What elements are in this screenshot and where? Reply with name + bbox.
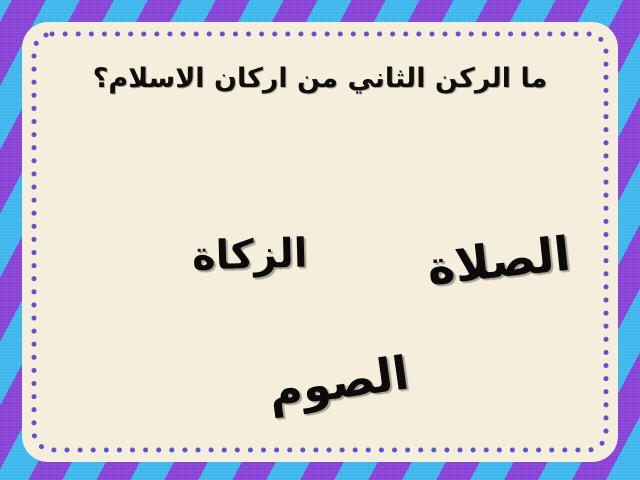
answer-option-salah[interactable]: الصلاة <box>425 227 573 297</box>
answer-option-zakah[interactable]: الزكاة <box>191 230 308 279</box>
quiz-slide: ما الركن الثاني من اركان الاسلام؟ الصلاة… <box>0 0 640 480</box>
question-card: ما الركن الثاني من اركان الاسلام؟ الصلاة… <box>22 22 618 462</box>
question-text: ما الركن الثاني من اركان الاسلام؟ <box>22 62 618 96</box>
answer-option-sawm[interactable]: الصوم <box>265 345 412 418</box>
